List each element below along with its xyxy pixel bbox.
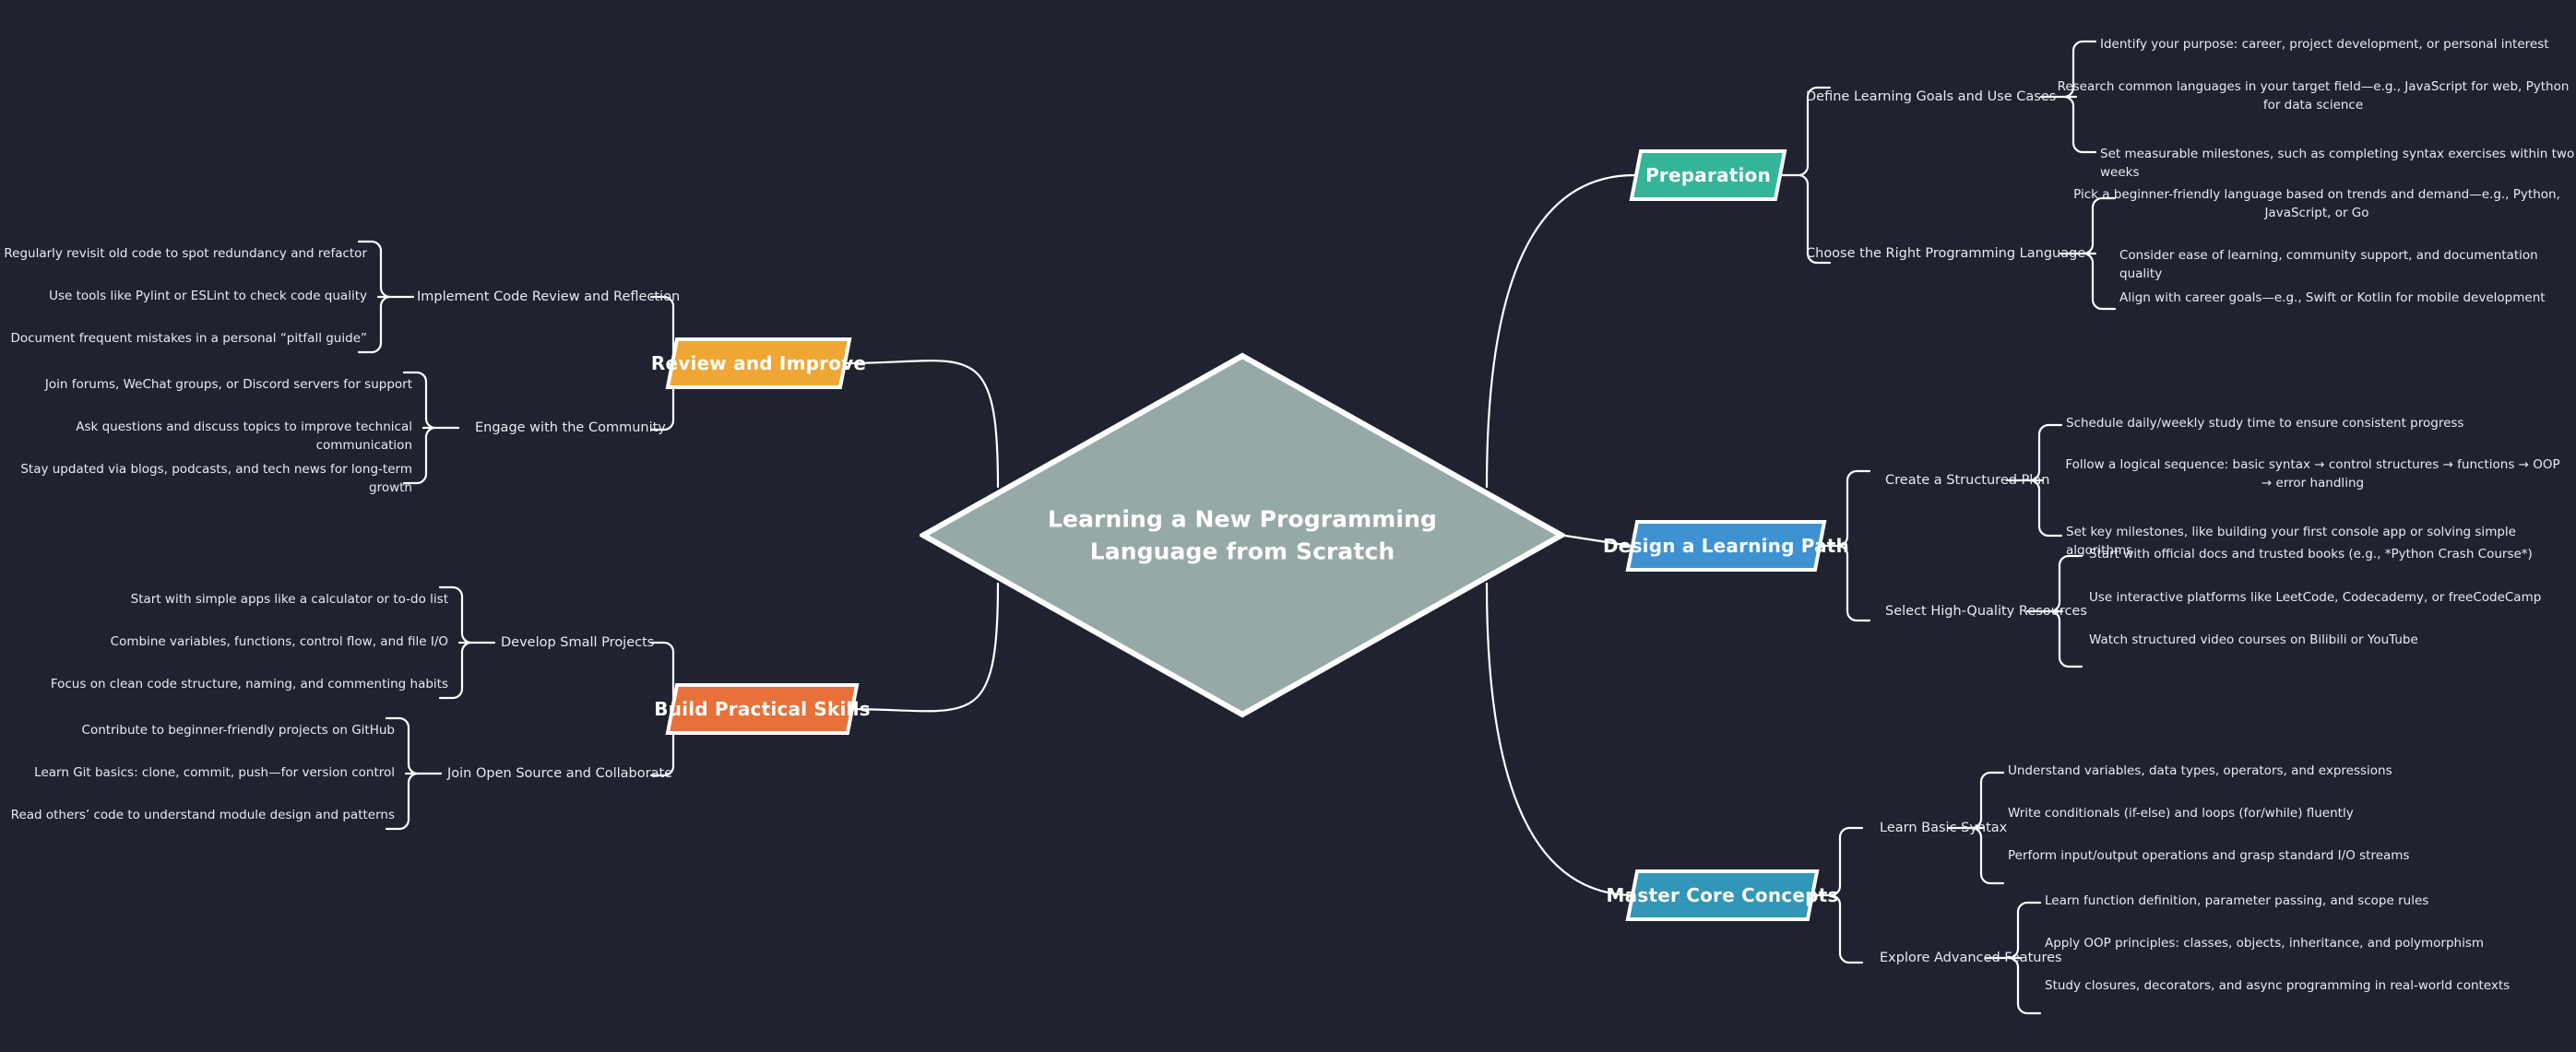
- leaf-align-career-goals: Align with career goals—e.g., Swift or K…: [2119, 289, 2576, 307]
- leaf-read-others-code: Read others’ code to understand module d…: [0, 806, 395, 824]
- center-title: Learning a New Programming Language from…: [1026, 502, 1459, 568]
- topic-label-create-structured-plan: Create a Structured Plan: [1885, 471, 2049, 491]
- leaf-set-measurable-milestones: Set measurable milestones, such as compl…: [2100, 145, 2576, 183]
- topic-label-define-learning-goals: Define Learning Goals and Use Cases: [1806, 88, 2056, 107]
- branch-label-review-and-improve: Review and Improve: [651, 352, 866, 374]
- leaf-pitfall-guide: Document frequent mistakes in a personal…: [0, 329, 367, 348]
- leaf-git-basics: Learn Git basics: clone, commit, push—fo…: [0, 763, 395, 782]
- leaf-conditionals-loops: Write conditionals (if-else) and loops (…: [2008, 804, 2561, 822]
- branch-node-master-core-concepts[interactable]: Master Core Concepts: [1631, 869, 1814, 921]
- leaf-understand-variables: Understand variables, data types, operat…: [2008, 762, 2561, 780]
- topic-label-choose-language: Choose the Right Programming Language: [1806, 244, 2085, 264]
- leaf-closures-decorators: Study closures, decorators, and async pr…: [2045, 976, 2570, 995]
- topic-label-develop-small-projects: Develop Small Projects: [501, 633, 654, 653]
- leaf-contribute-github: Contribute to beginner-friendly projects…: [0, 721, 395, 739]
- leaf-io-operations: Perform input/output operations and gras…: [2008, 846, 2561, 865]
- leaf-ease-of-learning: Consider ease of learning, community sup…: [2119, 246, 2576, 284]
- topic-label-engage-community: Engage with the Community: [475, 419, 666, 438]
- branch-node-design-a-learning-path[interactable]: Design a Learning Path: [1631, 520, 1822, 572]
- leaf-ask-questions: Ask questions and discuss topics to impr…: [0, 418, 412, 455]
- branch-node-review-and-improve[interactable]: Review and Improve: [671, 337, 847, 389]
- branch-label-design-a-learning-path: Design a Learning Path: [1603, 535, 1849, 557]
- mindmap-canvas: Learning a New Programming Language from…: [0, 0, 2576, 1052]
- leaf-revisit-old-code: Regularly revisit old code to spot redun…: [0, 244, 367, 263]
- leaf-pylint-eslint: Use tools like Pylint or ESLint to check…: [0, 287, 367, 305]
- leaf-combine-variables: Combine variables, functions, control fl…: [0, 632, 448, 651]
- leaf-interactive-platforms: Use interactive platforms like LeetCode,…: [2089, 588, 2569, 607]
- leaf-oop-principles: Apply OOP principles: classes, objects, …: [2045, 934, 2570, 952]
- topic-label-learn-basic-syntax: Learn Basic Syntax: [1880, 819, 2007, 838]
- leaf-stay-updated: Stay updated via blogs, podcasts, and te…: [0, 460, 412, 498]
- leaf-video-courses: Watch structured video courses on Bilibi…: [2089, 631, 2569, 649]
- center-node[interactable]: Learning a New Programming Language from…: [920, 352, 1565, 718]
- leaf-pick-beginner-language: Pick a beginner-friendly language based …: [2059, 185, 2575, 223]
- topic-label-select-resources: Select High-Quality Resources: [1885, 602, 2087, 621]
- branch-node-build-practical-skills[interactable]: Build Practical Skills: [671, 683, 854, 735]
- leaf-schedule-study-time: Schedule daily/weekly study time to ensu…: [2066, 414, 2564, 432]
- topic-label-explore-advanced-features: Explore Advanced Features: [1880, 949, 2062, 968]
- branch-label-preparation: Preparation: [1645, 164, 1771, 186]
- link-prep-topics: [1782, 88, 1830, 263]
- leaf-research-languages: Research common languages in your target…: [2055, 77, 2571, 115]
- topic-label-join-open-source: Join Open Source and Collaborate: [447, 764, 672, 784]
- leaf-simple-apps: Start with simple apps like a calculator…: [0, 590, 448, 609]
- leaf-function-definition: Learn function definition, parameter pas…: [2045, 892, 2570, 910]
- leaf-clean-code-structure: Focus on clean code structure, naming, a…: [0, 675, 448, 693]
- leaf-join-forums: Join forums, WeChat groups, or Discord s…: [0, 375, 412, 394]
- leaf-logical-sequence: Follow a logical sequence: basic syntax …: [2061, 455, 2564, 493]
- branch-label-master-core-concepts: Master Core Concepts: [1607, 884, 1839, 906]
- leaf-official-docs-books: Start with official docs and trusted boo…: [2089, 545, 2569, 563]
- topic-label-code-review-reflection: Implement Code Review and Reflection: [417, 288, 680, 307]
- leaf-identify-purpose: Identify your purpose: career, project d…: [2100, 35, 2576, 53]
- branch-node-preparation[interactable]: Preparation: [1634, 149, 1782, 201]
- branch-label-build-practical-skills: Build Practical Skills: [654, 698, 871, 720]
